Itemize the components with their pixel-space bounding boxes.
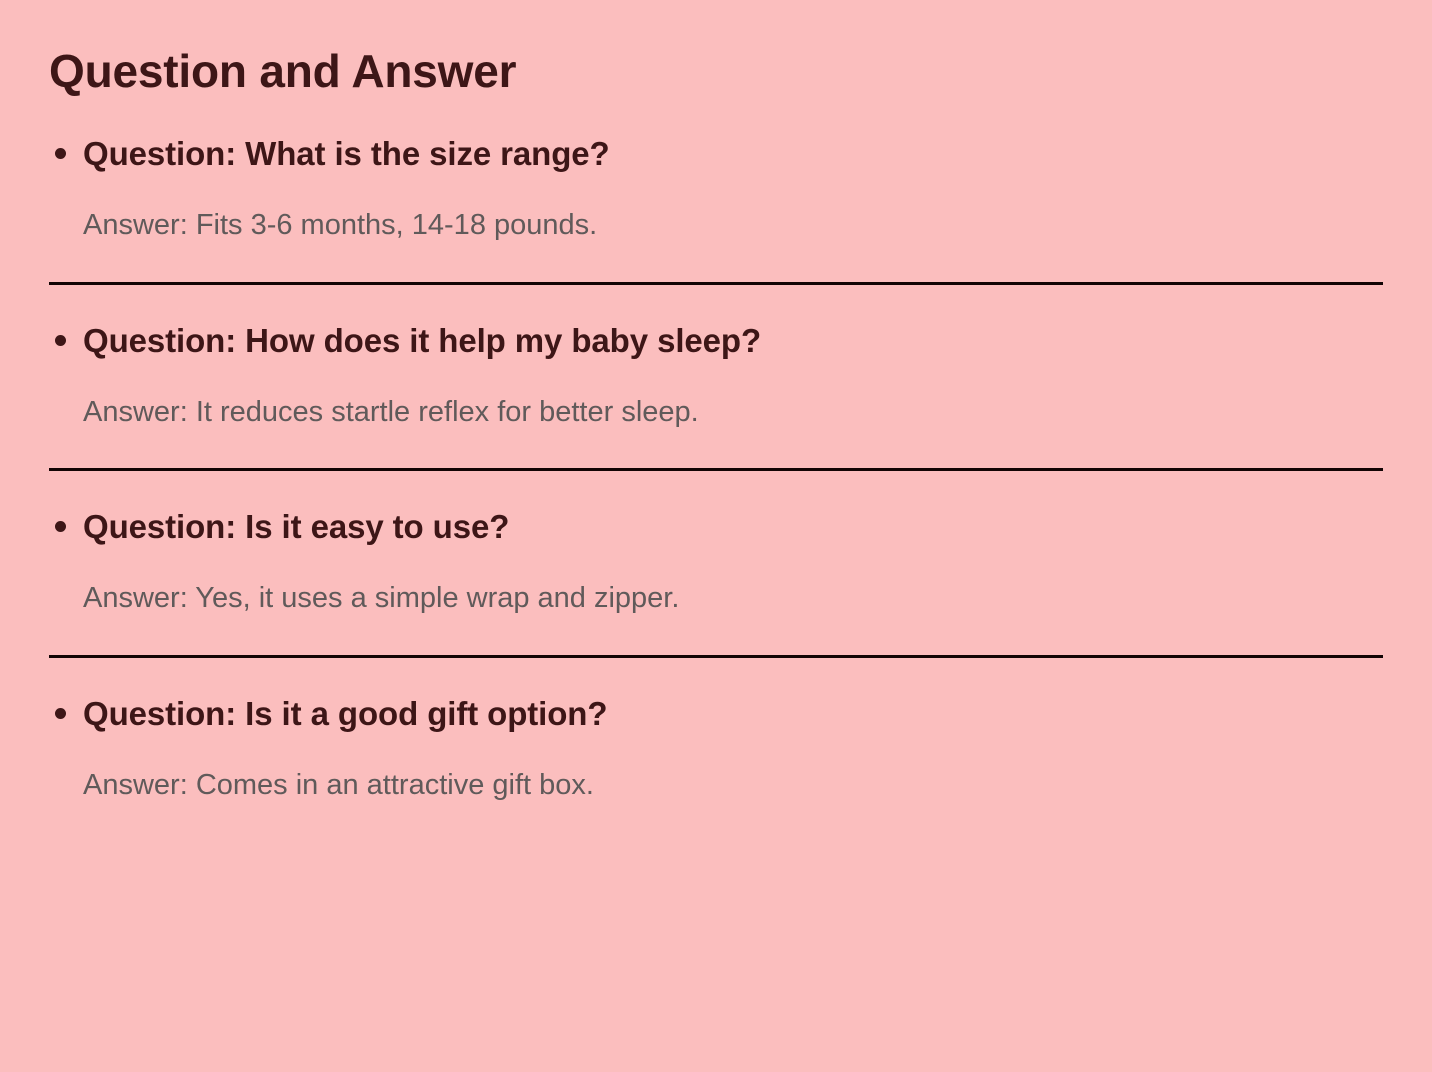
qa-question-text: Question: Is it easy to use? — [83, 508, 509, 545]
qa-question-text: Question: Is it a good gift option? — [83, 695, 607, 732]
qa-item: Question: How does it help my baby sleep… — [49, 282, 1383, 469]
qa-question-row: Question: Is it a good gift option? — [49, 658, 1383, 735]
qa-answer-text: Answer: Comes in an attractive gift box. — [49, 735, 1383, 842]
qa-item: Question: Is it a good gift option? Answ… — [49, 655, 1383, 842]
qa-question-row: Question: What is the size range? — [49, 98, 1383, 175]
qa-answer-text: Answer: Fits 3-6 months, 14-18 pounds. — [49, 175, 1383, 282]
question-and-answer-section: Question and Answer Question: What is th… — [0, 0, 1432, 1072]
qa-question-row: Question: How does it help my baby sleep… — [49, 285, 1383, 362]
qa-answer-text: Answer: Yes, it uses a simple wrap and z… — [49, 548, 1383, 655]
bullet-icon — [55, 335, 66, 346]
qa-answer-text: Answer: It reduces startle reflex for be… — [49, 362, 1383, 469]
qa-question-text: Question: How does it help my baby sleep… — [83, 322, 761, 359]
qa-question-row: Question: Is it easy to use? — [49, 471, 1383, 548]
qa-item: Question: What is the size range? Answer… — [49, 98, 1383, 282]
bullet-icon — [55, 148, 66, 159]
bullet-icon — [55, 708, 66, 719]
qa-list: Question: What is the size range? Answer… — [49, 98, 1383, 841]
qa-item: Question: Is it easy to use? Answer: Yes… — [49, 468, 1383, 655]
qa-question-text: Question: What is the size range? — [83, 135, 610, 172]
bullet-icon — [55, 521, 66, 532]
page-title: Question and Answer — [49, 0, 1383, 98]
